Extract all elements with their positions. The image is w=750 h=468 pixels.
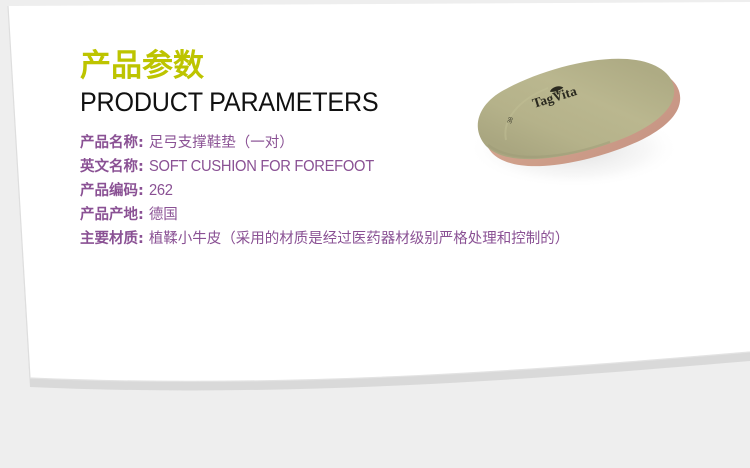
spec-row-material: 主要材质: 植鞣小牛皮（采用的材质是经过医药器材级别严格处理和控制的） [80, 227, 640, 251]
spec-label: 产品产地: [80, 203, 144, 227]
spec-label: 英文名称: [80, 155, 144, 179]
spec-value: 262 [149, 179, 173, 203]
spec-label: 产品编码: [80, 179, 144, 203]
product-image-insole: TagVita 38 [448, 28, 698, 213]
spec-label: 产品名称: [80, 131, 144, 155]
product-parameters-page: 产品参数 PRODUCT PARAMETERS 产品名称: 足弓支撑鞋垫（一对）… [0, 0, 750, 468]
spec-value: 德国 [149, 203, 178, 227]
spec-value: 足弓支撑鞋垫（一对） [149, 131, 294, 155]
spec-label: 主要材质: [80, 227, 144, 251]
spec-value: SOFT CUSHION FOR FOREFOOT [149, 155, 374, 179]
spec-value: 植鞣小牛皮（采用的材质是经过医药器材级别严格处理和控制的） [149, 227, 570, 251]
